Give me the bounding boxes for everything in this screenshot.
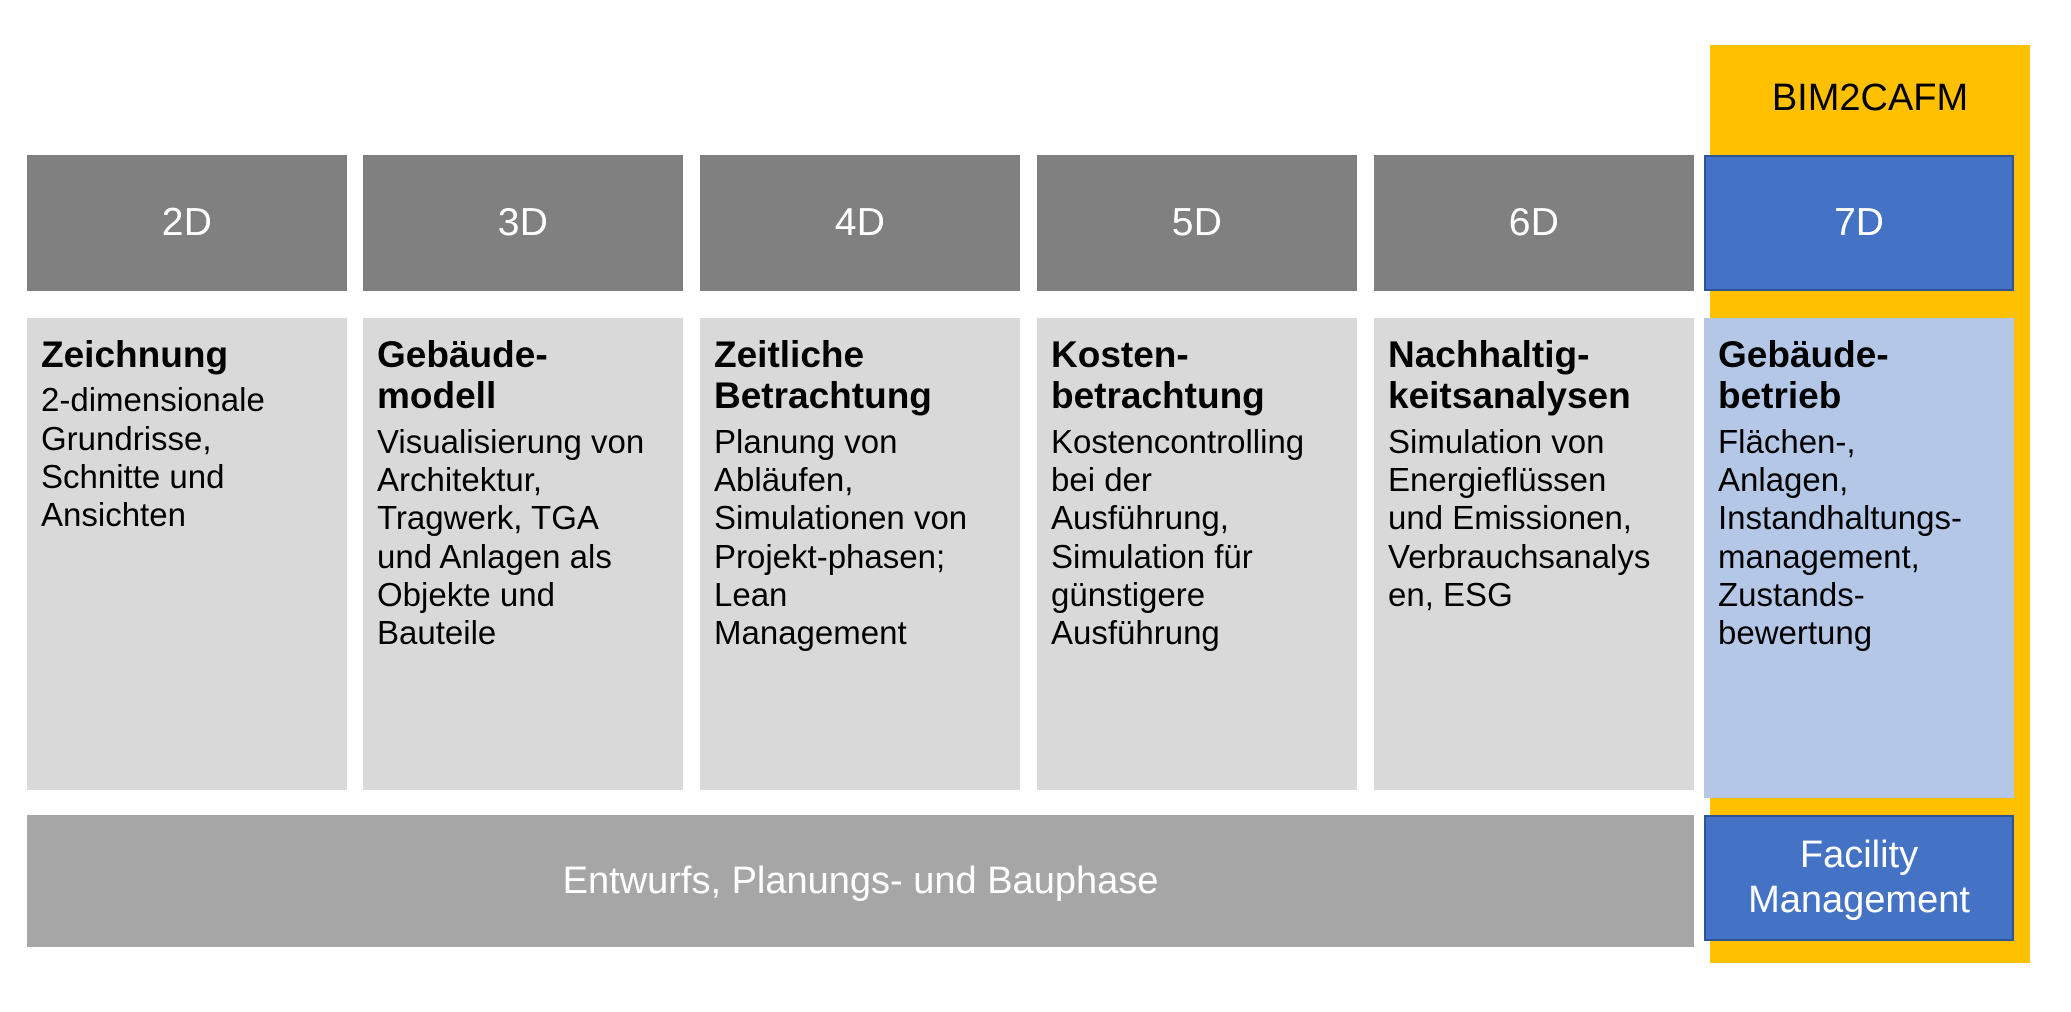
- dimension-description: Visualisierung von Architektur, Tragwerk…: [377, 423, 669, 653]
- dimension-panel-4d: Zeitliche Betrachtung Planung von Abläuf…: [700, 318, 1020, 790]
- dimension-title: Zeichnung: [41, 334, 333, 375]
- dimension-panel-6d: Nachhaltig- keitsanalysen Simulation von…: [1374, 318, 1694, 790]
- facility-management-box[interactable]: Facility Management: [1704, 815, 2014, 941]
- dimension-title: Gebäude- modell: [377, 334, 669, 417]
- dimension-panel-5d: Kosten- betrachtung Kostencontrolling be…: [1037, 318, 1357, 790]
- dimension-title: Kosten- betrachtung: [1051, 334, 1343, 417]
- dimension-header-3d[interactable]: 3D: [363, 155, 683, 291]
- dimension-label: 3D: [498, 201, 548, 245]
- dimension-panel-7d: Gebäude- betrieb Flächen-, Anlagen, Inst…: [1704, 318, 2014, 798]
- dimension-title: Zeitliche Betrachtung: [714, 334, 1006, 417]
- dimension-description: 2-dimensionale Grundrisse, Schnitte und …: [41, 381, 333, 534]
- bim-dimensions-diagram: 2D Zeichnung 2-dimensionale Grundrisse, …: [0, 0, 2071, 1012]
- phase-bar: Entwurfs, Planungs- und Bauphase: [27, 815, 1694, 947]
- bim2cafm-title-label: BIM2CAFM: [1772, 77, 1968, 120]
- dimension-title: Nachhaltig- keitsanalysen: [1388, 334, 1680, 417]
- dimension-header-5d[interactable]: 5D: [1037, 155, 1357, 291]
- dimension-header-2d[interactable]: 2D: [27, 155, 347, 291]
- dimension-header-4d[interactable]: 4D: [700, 155, 1020, 291]
- dimension-label: 6D: [1509, 201, 1559, 245]
- dimension-description: Kostencontrolling bei der Ausführung, Si…: [1051, 423, 1343, 653]
- dimension-panel-2d: Zeichnung 2-dimensionale Grundrisse, Sch…: [27, 318, 347, 790]
- dimension-description: Flächen-, Anlagen, Instandhaltungs- mana…: [1718, 423, 2000, 653]
- dimension-header-7d[interactable]: 7D: [1704, 155, 2014, 291]
- phase-bar-label: Entwurfs, Planungs- und Bauphase: [563, 860, 1159, 903]
- dimension-label: 2D: [162, 201, 212, 245]
- dimension-panel-3d: Gebäude- modell Visualisierung von Archi…: [363, 318, 683, 790]
- bim2cafm-title: BIM2CAFM: [1710, 48, 2030, 148]
- dimension-header-6d[interactable]: 6D: [1374, 155, 1694, 291]
- dimension-title: Gebäude- betrieb: [1718, 334, 2000, 417]
- dimension-description: Simulation von Energieflüssen und Emissi…: [1388, 423, 1680, 614]
- dimension-label: 4D: [835, 201, 885, 245]
- dimension-label: 7D: [1834, 201, 1884, 245]
- facility-management-label: Facility Management: [1748, 833, 1970, 923]
- dimension-description: Planung von Abläufen, Simulationen von P…: [714, 423, 1006, 653]
- dimension-label: 5D: [1172, 201, 1222, 245]
